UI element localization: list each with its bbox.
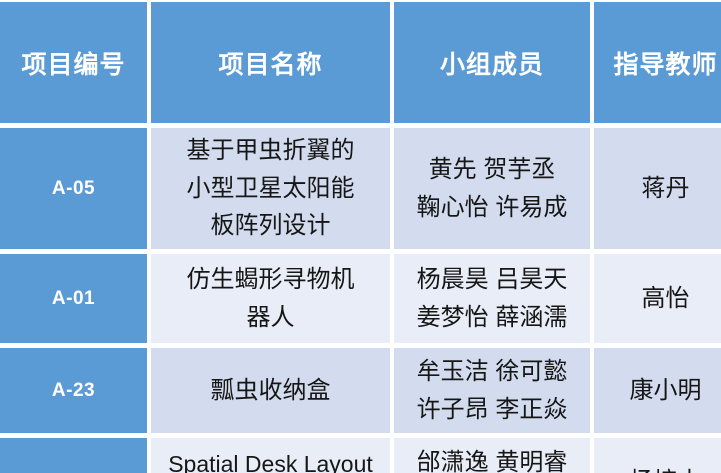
project-name-line: 基于甲虫折翼的 (151, 132, 390, 170)
cell-project-name: 瓢虫收纳盒 (151, 348, 390, 433)
cell-project-name: 仿生蝎形寻物机 器人 (151, 254, 390, 343)
cell-advisor-teacher: 康小明 (594, 348, 721, 433)
cell-group-members: 牟玉洁 徐可懿 许子昂 李正焱 (394, 348, 590, 433)
cell-group-members: 邰潇逸 黄明睿 蔡睿劼 吴睿兴 (394, 438, 590, 473)
cell-project-id: A-26 (0, 438, 147, 473)
members-line: 邰潇逸 黄明睿 (394, 444, 590, 473)
members-line: 鞠心怡 许易成 (394, 189, 590, 227)
column-header-project-name: 项目名称 (151, 2, 390, 123)
members-line: 黄先 贺芋丞 (394, 151, 590, 189)
project-name-line: 板阵列设计 (151, 207, 390, 245)
cell-project-id: A-05 (0, 128, 147, 249)
members-line: 牟玉洁 徐可懿 (394, 353, 590, 391)
cell-project-name: 基于甲虫折翼的 小型卫星太阳能 板阵列设计 (151, 128, 390, 249)
project-name-line: 仿生蝎形寻物机 (151, 261, 390, 299)
table-row: A-01 仿生蝎形寻物机 器人 杨晨昊 吕昊天 姜梦怡 薛涵濡 高怡 (0, 254, 721, 343)
screenshot-root: 项目编号 项目名称 小组成员 指导教师 A-05 基于甲虫折翼的 小型卫星太阳能… (0, 0, 721, 473)
column-header-advisor-teacher: 指导教师 (594, 2, 721, 123)
members-line: 许子昂 李正焱 (394, 391, 590, 429)
table-row: A-05 基于甲虫折翼的 小型卫星太阳能 板阵列设计 黄先 贺芋丞 鞠心怡 许易… (0, 128, 721, 249)
cell-project-id: A-01 (0, 254, 147, 343)
cell-project-id: A-23 (0, 348, 147, 433)
table-row: A-26 Spatial Desk Layout Design 邰潇逸 黄明睿 … (0, 438, 721, 473)
table-row: A-23 瓢虫收纳盒 牟玉洁 徐可懿 许子昂 李正焱 康小明 (0, 348, 721, 433)
members-line: 杨晨昊 吕昊天 (394, 261, 590, 299)
members-line: 姜梦怡 薛涵濡 (394, 299, 590, 337)
project-name-line: 小型卫星太阳能 (151, 170, 390, 208)
column-header-project-id: 项目编号 (0, 2, 147, 123)
project-name-line: 瓢虫收纳盒 (151, 372, 390, 410)
cell-group-members: 杨晨昊 吕昊天 姜梦怡 薛涵濡 (394, 254, 590, 343)
project-name-line: 器人 (151, 299, 390, 337)
table-body: A-05 基于甲虫折翼的 小型卫星太阳能 板阵列设计 黄先 贺芋丞 鞠心怡 许易… (0, 128, 721, 473)
column-header-group-members: 小组成员 (394, 2, 590, 123)
header-row: 项目编号 项目名称 小组成员 指导教师 (0, 2, 721, 123)
cell-advisor-teacher: 高怡 (594, 254, 721, 343)
cell-advisor-teacher: 蒋丹 (594, 128, 721, 249)
project-name-line: Spatial Desk Layout (151, 446, 390, 473)
table-header: 项目编号 项目名称 小组成员 指导教师 (0, 2, 721, 123)
cell-group-members: 黄先 贺芋丞 鞠心怡 许易成 (394, 128, 590, 249)
project-table: 项目编号 项目名称 小组成员 指导教师 A-05 基于甲虫折翼的 小型卫星太阳能… (0, 0, 721, 473)
cell-advisor-teacher: 杨培中 (594, 438, 721, 473)
cell-project-name: Spatial Desk Layout Design (151, 438, 390, 473)
